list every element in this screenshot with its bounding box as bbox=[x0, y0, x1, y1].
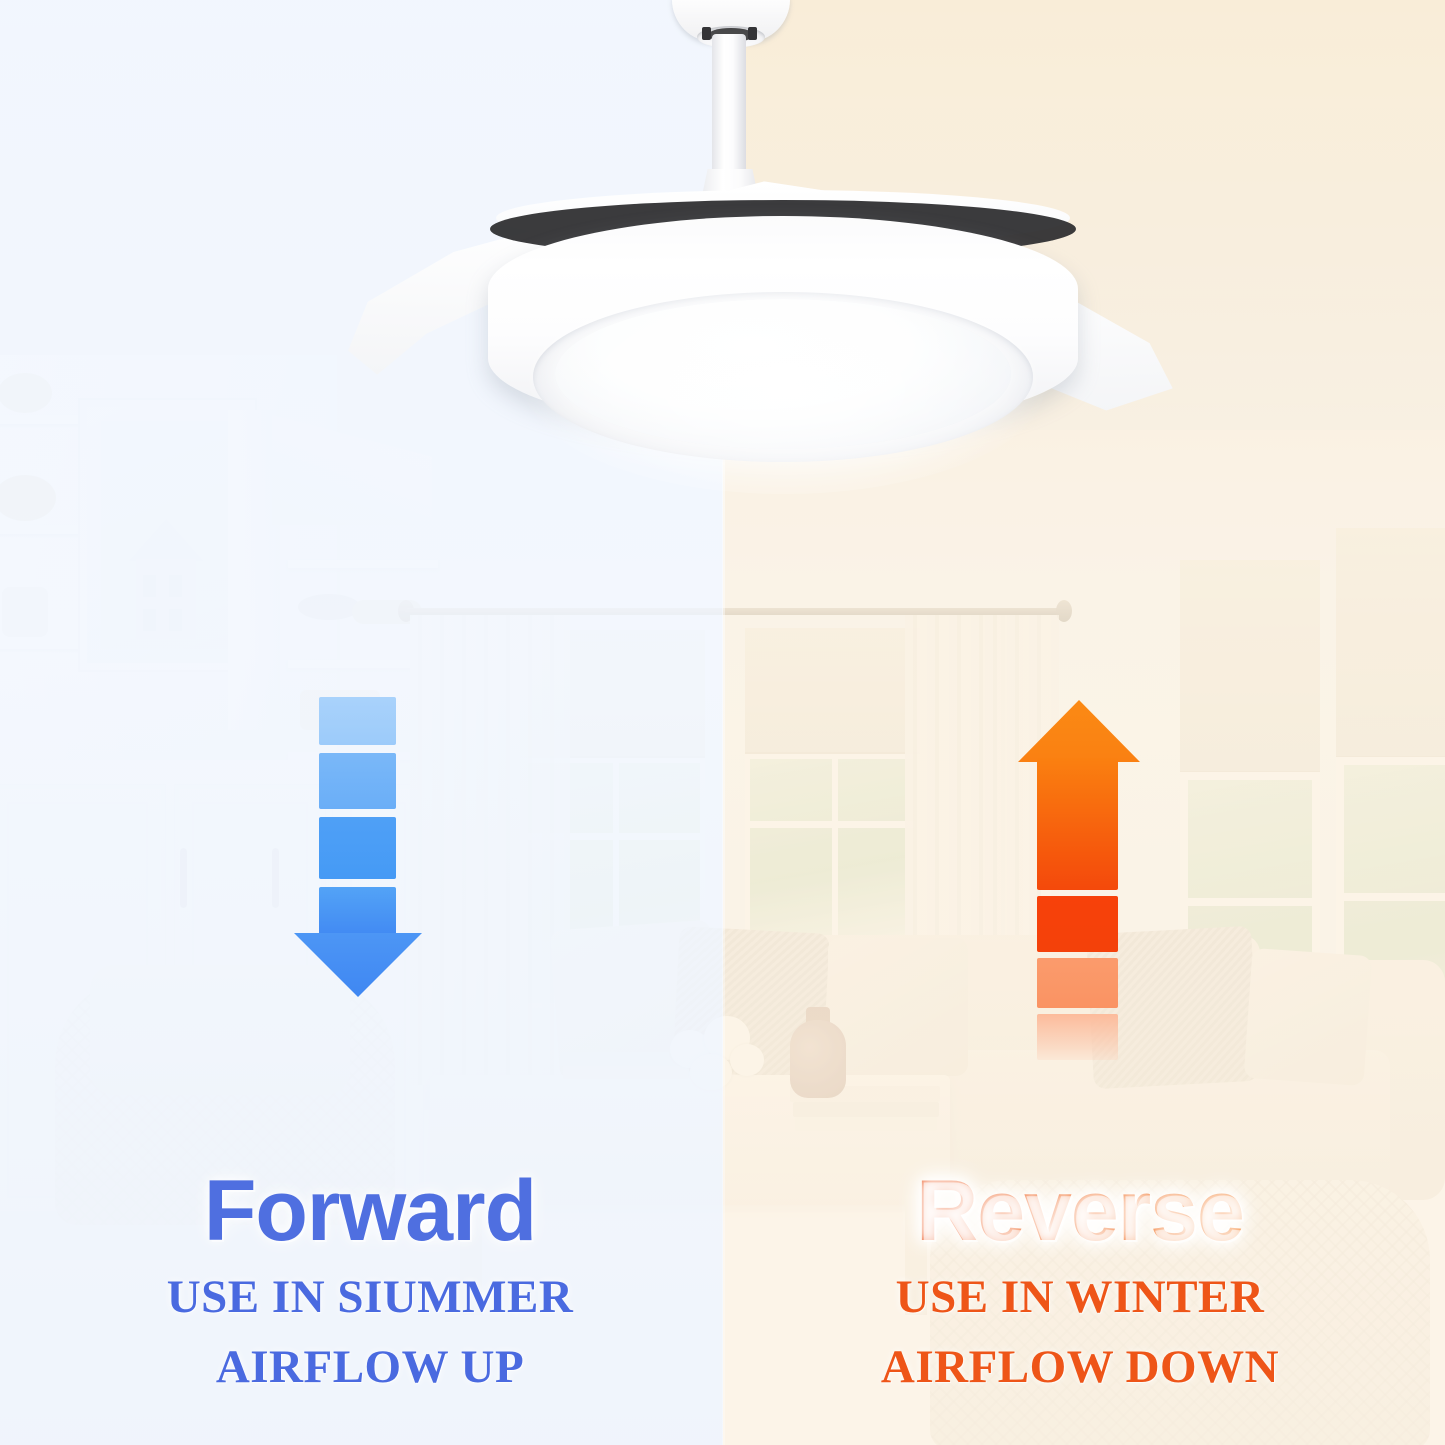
downrod bbox=[712, 34, 746, 184]
reverse-subtitle-line2: AIRFLOW DOWN bbox=[750, 1342, 1410, 1394]
airflow-arrow-down bbox=[294, 697, 422, 997]
canopy-clip bbox=[748, 27, 757, 40]
airflow-arrow-up bbox=[1018, 700, 1140, 1000]
forward-caption-block: Forward USE IN SIUMMER AIRFLOW UP bbox=[40, 1168, 700, 1393]
led-light-dome bbox=[555, 299, 1011, 449]
arrow-segment bbox=[1037, 758, 1118, 890]
arrow-segment bbox=[1037, 1014, 1118, 1060]
arrow-segment bbox=[1037, 958, 1118, 1008]
arrow-segment bbox=[319, 887, 396, 937]
arrow-head bbox=[294, 933, 422, 997]
arrow-segment bbox=[319, 753, 396, 809]
forward-subtitle-line1: USE IN SIUMMER bbox=[40, 1272, 700, 1324]
reverse-subtitle-line1: USE IN WINTER bbox=[750, 1272, 1410, 1324]
arrow-head bbox=[1018, 700, 1140, 762]
forward-subtitle-line2: AIRFLOW UP bbox=[40, 1342, 700, 1394]
reverse-caption-block: Reverse USE IN WINTER AIRFLOW DOWN bbox=[750, 1168, 1410, 1393]
reverse-headline: Reverse bbox=[750, 1168, 1410, 1254]
arrow-segment bbox=[1037, 896, 1118, 952]
ceiling-fan bbox=[350, 0, 1110, 424]
canopy-clip bbox=[702, 27, 711, 40]
arrow-segment bbox=[319, 697, 396, 745]
forward-headline: Forward bbox=[40, 1168, 700, 1254]
infographic-canvas: Forward USE IN SIUMMER AIRFLOW UP Revers… bbox=[0, 0, 1445, 1445]
arrow-segment bbox=[319, 817, 396, 879]
